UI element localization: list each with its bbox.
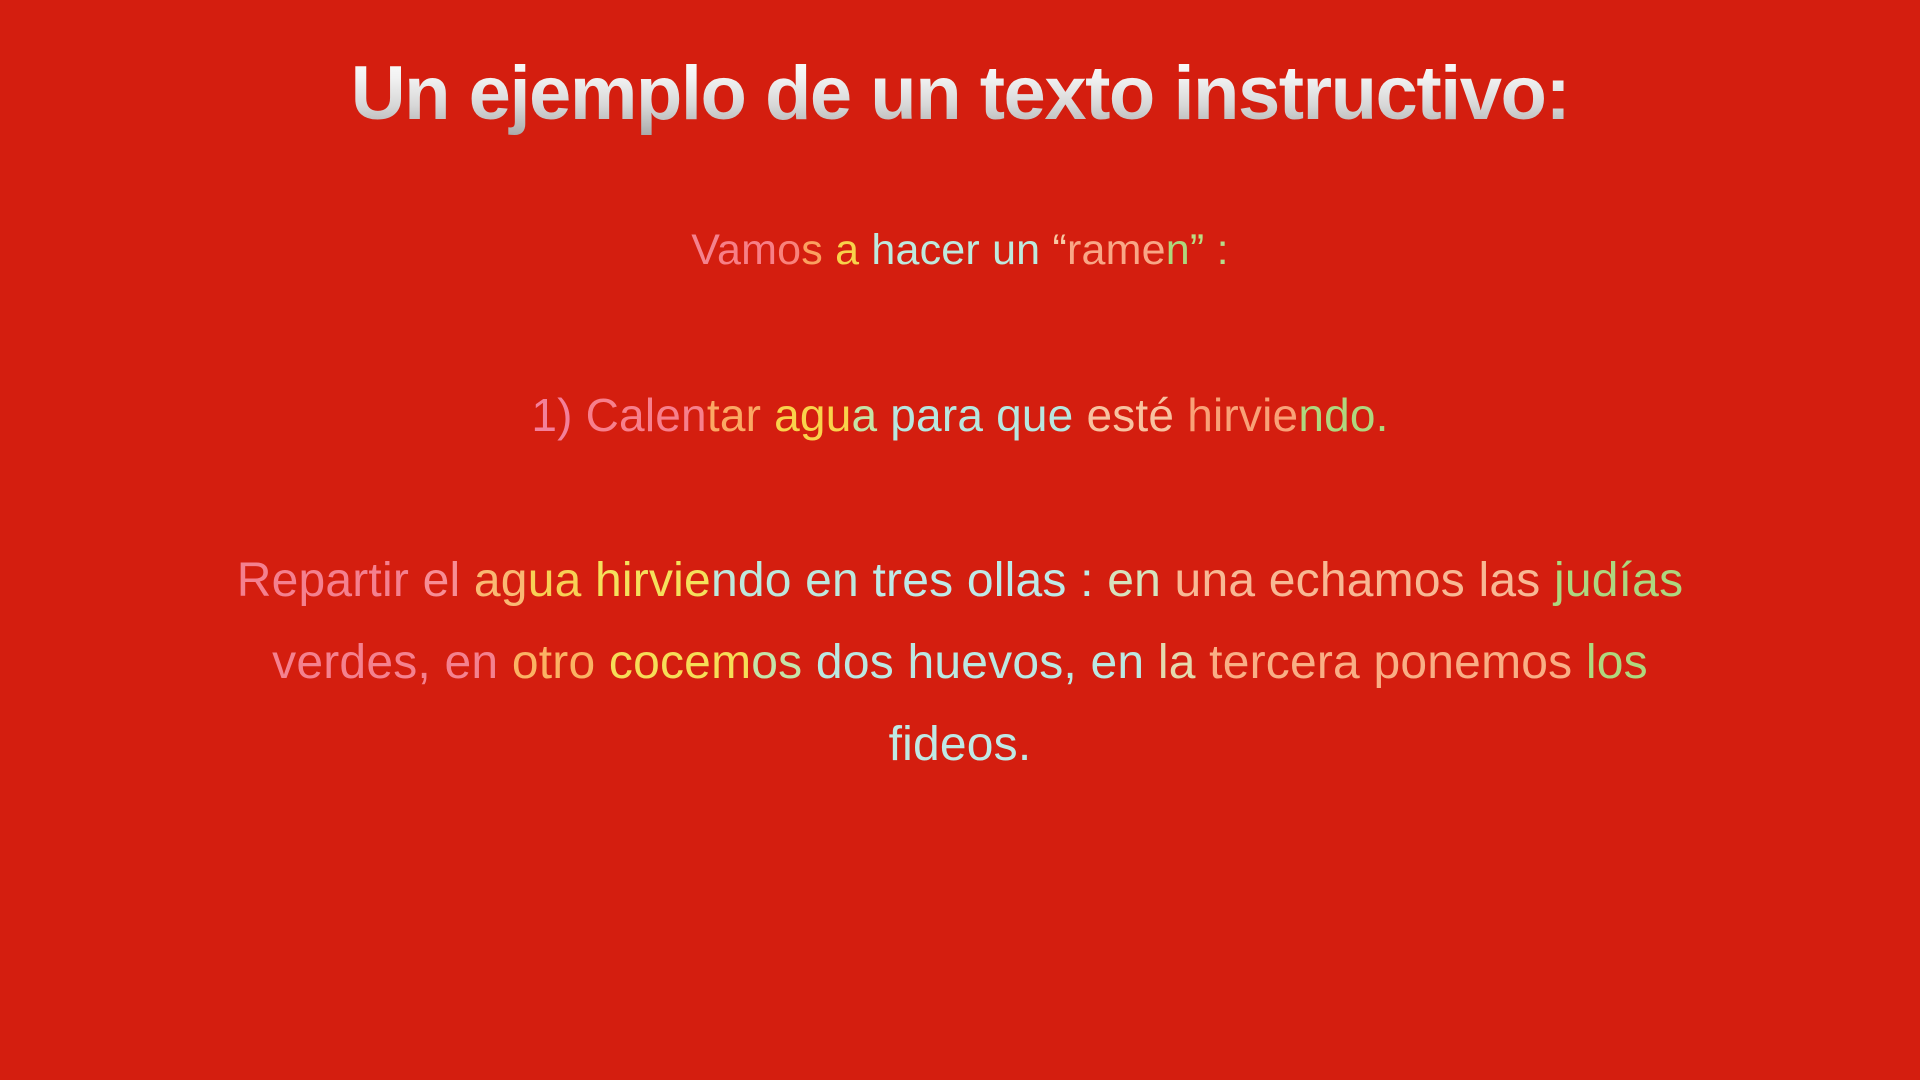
text-segment xyxy=(1174,389,1187,441)
text-segment xyxy=(761,389,774,441)
text-segment: Calen xyxy=(586,389,707,441)
text-segment xyxy=(823,226,835,274)
text-segment: judías xyxy=(1554,554,1683,607)
text-segment xyxy=(859,226,871,274)
text-segment xyxy=(409,554,423,607)
text-segment: rame xyxy=(1067,226,1166,274)
text-segment: : xyxy=(1204,226,1228,274)
text-segment: ag xyxy=(474,554,528,607)
text-segment: hirvie xyxy=(595,554,711,607)
text-segment xyxy=(1196,636,1210,689)
text-segment: verdes, en xyxy=(272,636,498,689)
text-segment xyxy=(1040,226,1052,274)
page-title: Un ejemplo de un texto instructivo: xyxy=(0,52,1920,136)
text-segment xyxy=(581,554,595,607)
text-segment: los xyxy=(1586,636,1648,689)
text-segment xyxy=(1094,554,1108,607)
text-segment: am xyxy=(717,226,777,274)
text-segment xyxy=(573,389,586,441)
instruction-paragraph: Repartir el agua hirviendo en tres ollas… xyxy=(0,540,1920,786)
text-segment xyxy=(1161,554,1175,607)
text-segment: V xyxy=(691,226,717,274)
text-segment xyxy=(460,554,474,607)
text-segment xyxy=(1073,389,1086,441)
step-one-line: 1) Calentar agua para que esté hirviendo… xyxy=(0,388,1920,442)
text-segment: fideos. xyxy=(889,718,1032,771)
text-segment: ndo en xyxy=(711,554,859,607)
text-segment: a xyxy=(851,389,877,441)
paragraph-row: verdes, en otro cocemos dos huevos, en l… xyxy=(0,622,1920,704)
text-segment: agu xyxy=(774,389,851,441)
text-segment: tar xyxy=(707,389,761,441)
text-segment: dos huevos, en xyxy=(816,636,1144,689)
text-segment: la xyxy=(1158,636,1196,689)
text-segment: hacer un xyxy=(871,226,1040,274)
text-segment: ” xyxy=(1190,226,1205,274)
text-segment: una echamos las xyxy=(1175,554,1541,607)
text-segment: esté xyxy=(1086,389,1174,441)
text-segment: o xyxy=(777,226,801,274)
text-segment xyxy=(877,389,890,441)
text-segment: “ xyxy=(1052,226,1067,274)
text-segment: el xyxy=(423,554,461,607)
text-segment xyxy=(1144,636,1158,689)
text-segment: cocem xyxy=(609,636,751,689)
text-segment: tres ollas : xyxy=(873,554,1094,607)
text-segment: 1) xyxy=(531,389,572,441)
text-segment xyxy=(1540,554,1554,607)
text-segment xyxy=(498,636,512,689)
text-segment xyxy=(1572,636,1586,689)
text-segment: ua xyxy=(528,554,582,607)
text-segment: s xyxy=(801,226,823,274)
text-segment: en xyxy=(1107,554,1161,607)
text-segment: hirvie xyxy=(1187,389,1298,441)
intro-line: Vamos a hacer un “ramen” : xyxy=(0,226,1920,275)
text-segment: n xyxy=(1166,226,1190,274)
text-segment: a xyxy=(835,226,859,274)
text-segment: Repartir xyxy=(237,554,409,607)
text-segment: otro xyxy=(512,636,596,689)
text-segment xyxy=(802,636,816,689)
text-segment xyxy=(859,554,873,607)
text-segment: os xyxy=(751,636,802,689)
paragraph-row: Repartir el agua hirviendo en tres ollas… xyxy=(0,540,1920,622)
paragraph-row: fideos. xyxy=(0,704,1920,786)
text-segment: ndo. xyxy=(1298,389,1388,441)
text-segment: tercera ponemos xyxy=(1209,636,1572,689)
text-segment xyxy=(595,636,609,689)
slide-canvas: Un ejemplo de un texto instructivo: Vamo… xyxy=(0,0,1920,1080)
text-segment: para que xyxy=(890,389,1073,441)
